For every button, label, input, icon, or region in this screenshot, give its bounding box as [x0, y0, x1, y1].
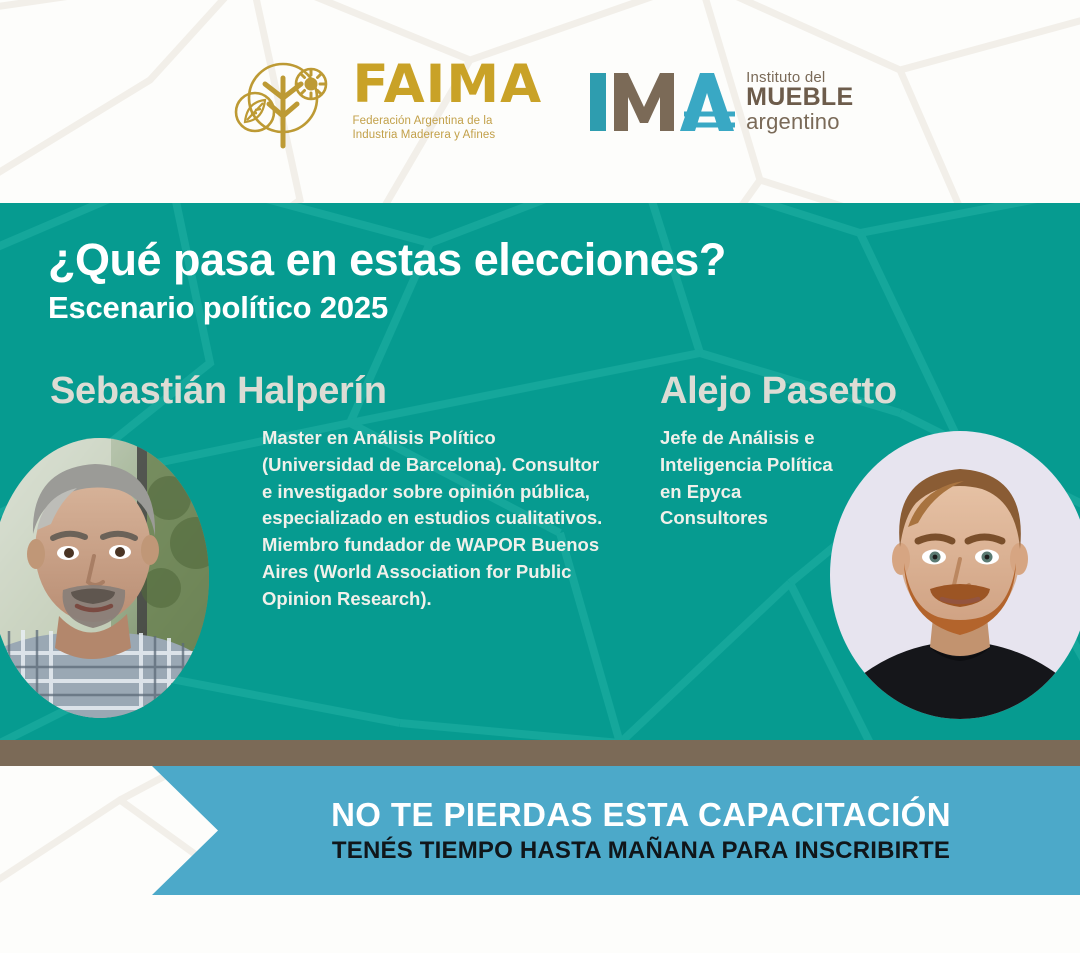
speaker-name-left: Sebastián Halperín	[50, 370, 387, 413]
ima-wordmark: Instituto del MUEBLE argentino	[746, 70, 853, 133]
poster-canvas: FAIMA Federación Argentina de la Industr…	[0, 0, 1080, 953]
call-to-action-ribbon[interactable]: NO TE PIERDAS ESTA CAPACITACIÓN TENÉS TI…	[152, 766, 1080, 895]
headline-block: ¿Qué pasa en estas elecciones? Escenario…	[48, 236, 948, 326]
ima-logo: Instituto del MUEBLE argentino	[588, 67, 853, 137]
faima-tagline: Federación Argentina de la Industria Mad…	[353, 114, 543, 143]
main-teal-panel: ¿Qué pasa en estas elecciones? Escenario…	[0, 203, 1080, 740]
ima-monogram-icon	[588, 67, 736, 137]
speaker-photo-right	[830, 431, 1080, 719]
portrait-alejo-pasetto	[830, 431, 1080, 719]
ima-tagline-line3: argentino	[746, 111, 853, 133]
ribbon-text-block: NO TE PIERDAS ESTA CAPACITACIÓN TENÉS TI…	[152, 766, 1080, 895]
portrait-sebastian-halperin	[0, 438, 209, 718]
poster-header: FAIMA Federación Argentina de la Industr…	[0, 0, 1080, 203]
speaker-name-right: Alejo Pasetto	[660, 370, 897, 413]
page-subtitle: Escenario político 2025	[48, 290, 948, 326]
ima-tagline-line2: MUEBLE	[746, 85, 853, 111]
faima-wordmark: FAIMA Federación Argentina de la Industr…	[353, 60, 543, 142]
speaker-bio-right: Jefe de Análisis e Inteligencia Política…	[660, 425, 850, 532]
brown-divider-strip	[0, 740, 1080, 766]
ribbon-subline: TENÉS TIEMPO HASTA MAÑANA PARA INSCRIBIR…	[332, 837, 950, 865]
ribbon-headline: NO TE PIERDAS ESTA CAPACITACIÓN	[331, 797, 951, 833]
page-title: ¿Qué pasa en estas elecciones?	[48, 236, 948, 284]
speaker-bio-left: Master en Análisis Político (Universidad…	[262, 425, 612, 613]
faima-tagline-line1: Federación Argentina de la	[353, 114, 543, 128]
poster-footer	[0, 895, 1080, 953]
tree-gear-leaf-logo-icon	[227, 54, 339, 150]
faima-tagline-line2: Industria Maderera y Afines	[353, 128, 543, 142]
logo-row: FAIMA Federación Argentina de la Industr…	[0, 0, 1080, 203]
speaker-photo-left	[0, 438, 209, 718]
faima-logo: FAIMA Federación Argentina de la Industr…	[227, 54, 543, 150]
faima-name: FAIMA	[353, 60, 543, 110]
